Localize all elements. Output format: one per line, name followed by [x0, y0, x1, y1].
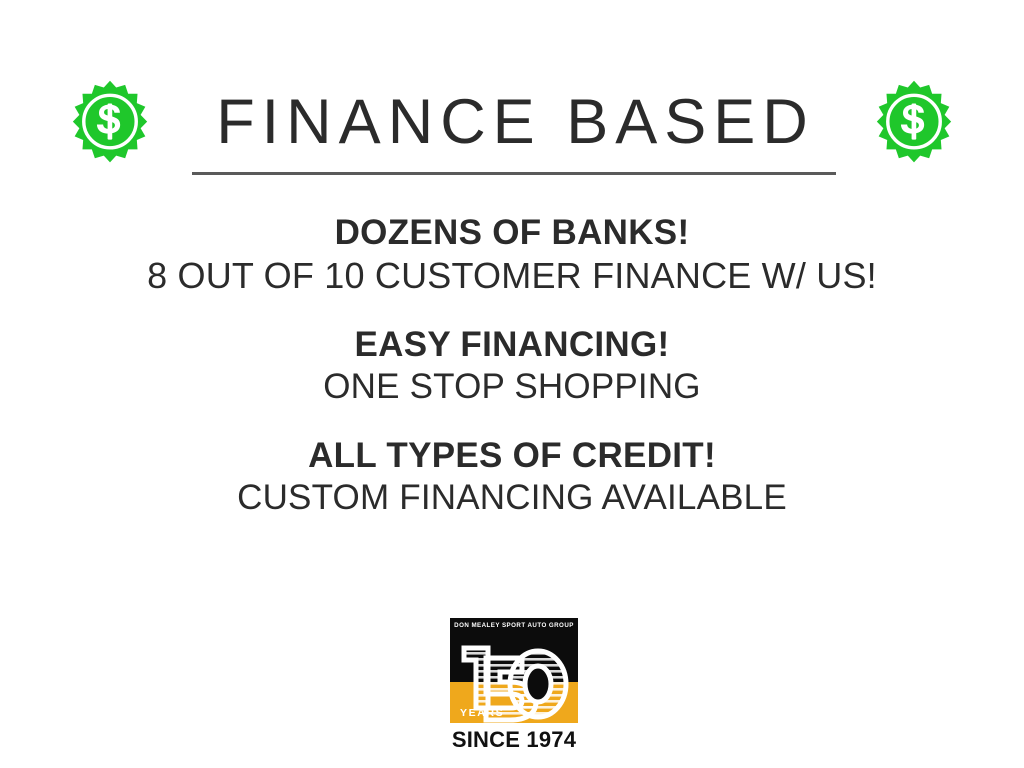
slide-canvas: FINANCE BASED DOZENS OF BANKS! 8 OUT OF …	[0, 0, 1024, 768]
page-title: FINANCE BASED	[209, 91, 815, 154]
copy-subline: ONE STOP SHOPPING	[0, 366, 1024, 408]
slide-header: FINANCE BASED	[0, 72, 1024, 172]
dollar-gear-icon	[871, 79, 957, 165]
copy-block: EASY FINANCING! ONE STOP SHOPPING	[0, 324, 1024, 408]
logo-years-label: YEARS	[460, 708, 504, 719]
dealer-logo: DON MEALEY SPORT AUTO GROUP YEARS SINCE …	[450, 618, 578, 751]
copy-block: DOZENS OF BANKS! 8 OUT OF 10 CUSTOMER FI…	[0, 212, 1024, 297]
body-copy: DOZENS OF BANKS! 8 OUT OF 10 CUSTOMER FI…	[0, 212, 1024, 519]
dollar-gear-icon	[67, 79, 153, 165]
logo-since-label: SINCE 1974	[450, 728, 578, 751]
copy-subline: CUSTOM FINANCING AVAILABLE	[0, 477, 1024, 519]
copy-headline: EASY FINANCING!	[0, 324, 1024, 366]
logo-badge: DON MEALEY SPORT AUTO GROUP YEARS	[450, 618, 578, 723]
copy-block: ALL TYPES OF CREDIT! CUSTOM FINANCING AV…	[0, 435, 1024, 519]
title-divider	[192, 172, 836, 175]
title-wrap: FINANCE BASED	[209, 91, 815, 154]
copy-headline: ALL TYPES OF CREDIT!	[0, 435, 1024, 477]
copy-subline: 8 OUT OF 10 CUSTOMER FINANCE W/ US!	[0, 254, 1024, 297]
copy-headline: DOZENS OF BANKS!	[0, 212, 1024, 254]
